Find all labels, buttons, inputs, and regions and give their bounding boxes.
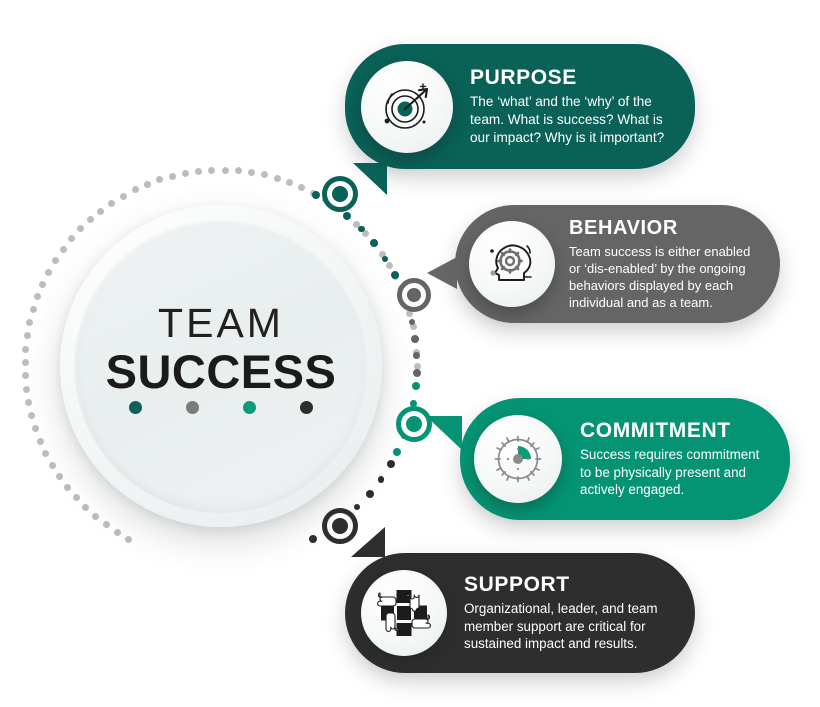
card-commitment[interactable]: COMMITMENT Success requires commitment t… xyxy=(460,398,790,520)
card-body-commitment: Success requires commitment to be physic… xyxy=(580,446,774,499)
connector-dot xyxy=(413,369,421,377)
card-body-support: Organizational, leader, and team member … xyxy=(464,600,677,653)
orbit-dot xyxy=(73,494,80,501)
orbit-dot xyxy=(28,412,35,419)
orbit-dot xyxy=(169,173,176,180)
orbit-dot xyxy=(156,176,163,183)
card-text-support: SUPPORT Organizational, leader, and team… xyxy=(447,573,677,653)
orbit-dot xyxy=(64,484,71,491)
ring-marker-core xyxy=(332,186,348,202)
orbit-dot xyxy=(49,462,56,469)
connector-dot xyxy=(366,490,374,498)
card-title-purpose: PURPOSE xyxy=(470,66,677,89)
orbit-dot xyxy=(261,171,268,178)
orbit-dot xyxy=(222,167,229,174)
ring-marker-core xyxy=(406,416,422,432)
orbit-dot xyxy=(92,513,99,520)
hub-dot-1 xyxy=(186,401,199,414)
card-behavior[interactable]: BEHAVIOR Team success is either enabled … xyxy=(455,205,780,323)
card-tail-purpose xyxy=(353,163,387,195)
hub-dot-3 xyxy=(300,401,313,414)
card-text-behavior: BEHAVIOR Team success is either enabled … xyxy=(555,217,764,312)
connector-dot xyxy=(358,226,365,233)
orbit-dot xyxy=(144,181,151,188)
orbit-dot xyxy=(60,246,67,253)
orbit-dot xyxy=(182,170,189,177)
orbit-dot xyxy=(52,257,59,264)
orbit-dot xyxy=(77,225,84,232)
orbit-dot xyxy=(274,175,281,182)
orbit-dot xyxy=(23,386,30,393)
orbit-dot xyxy=(235,167,242,174)
orbit-dot xyxy=(103,521,110,528)
connector-dot xyxy=(382,256,389,263)
head-gear-icon xyxy=(484,236,540,292)
connector-dot xyxy=(309,535,317,543)
orbit-dot xyxy=(34,293,41,300)
team-success-hub: TEAM SUCCESS xyxy=(60,205,382,527)
orbit-dot xyxy=(286,179,293,186)
hub-dot-0 xyxy=(129,401,142,414)
connector-dot xyxy=(391,271,399,279)
badge-commitment xyxy=(474,415,562,503)
hub-title-line1: TEAM xyxy=(60,303,382,344)
orbit-dot xyxy=(108,200,115,207)
card-support[interactable]: SUPPORT Organizational, leader, and team… xyxy=(345,553,695,673)
connector-dot xyxy=(413,352,420,359)
card-tail-support xyxy=(351,527,385,557)
connector-dot xyxy=(312,191,320,199)
target-arrow-icon xyxy=(377,77,437,137)
gear-clock-icon xyxy=(489,430,547,488)
ring-marker-core xyxy=(332,518,348,534)
orbit-dot xyxy=(298,184,305,191)
orbit-dot xyxy=(39,281,46,288)
card-text-purpose: PURPOSE The ‘what’ and the ‘why’ of the … xyxy=(453,66,677,147)
orbit-dot xyxy=(248,169,255,176)
hub-title-line2: SUCCESS xyxy=(60,348,382,395)
badge-purpose xyxy=(361,61,453,153)
orbit-dot xyxy=(32,425,39,432)
card-text-commitment: COMMITMENT Success requires commitment t… xyxy=(562,419,774,499)
ring-marker-behavior[interactable] xyxy=(397,278,431,312)
orbit-dot xyxy=(114,529,121,536)
connector-dot xyxy=(393,448,401,456)
orbit-dot xyxy=(22,372,29,379)
orbit-dot xyxy=(208,167,215,174)
badge-behavior xyxy=(469,221,555,307)
orbit-dot xyxy=(82,504,89,511)
connector-dot xyxy=(411,335,419,343)
four-hands-icon xyxy=(376,585,432,641)
orbit-dot xyxy=(68,235,75,242)
card-title-support: SUPPORT xyxy=(464,573,677,596)
orbit-dot xyxy=(26,319,33,326)
connector-dot xyxy=(343,212,351,220)
orbit-dot xyxy=(195,168,202,175)
card-title-commitment: COMMITMENT xyxy=(580,419,774,442)
orbit-dot xyxy=(87,216,94,223)
card-body-behavior: Team success is either enabled or ‘dis-e… xyxy=(569,243,764,312)
connector-dot xyxy=(378,476,385,483)
card-tail-behavior xyxy=(427,257,457,289)
orbit-dot xyxy=(22,346,29,353)
orbit-dot xyxy=(132,186,139,193)
orbit-dot xyxy=(24,332,31,339)
hub-color-dots xyxy=(60,401,382,414)
orbit-dot xyxy=(37,438,44,445)
orbit-dot xyxy=(42,450,49,457)
connector-dot xyxy=(412,382,420,390)
orbit-dot xyxy=(22,359,29,366)
hub-dot-2 xyxy=(243,401,256,414)
card-title-behavior: BEHAVIOR xyxy=(569,217,764,239)
orbit-dot xyxy=(97,208,104,215)
orbit-dot xyxy=(386,262,393,269)
ring-marker-core xyxy=(407,288,421,302)
hub-title-block: TEAM SUCCESS xyxy=(60,303,382,395)
orbit-dot xyxy=(56,473,63,480)
infographic-canvas: TEAM SUCCESS PURPOSE The ‘what’ xyxy=(0,0,820,707)
orbit-dot xyxy=(25,399,32,406)
card-purpose[interactable]: PURPOSE The ‘what’ and the ‘why’ of the … xyxy=(345,44,695,169)
orbit-dot xyxy=(120,193,127,200)
orbit-dot xyxy=(45,269,52,276)
connector-dot xyxy=(387,460,395,468)
orbit-dot xyxy=(30,306,37,313)
card-tail-commitment xyxy=(426,416,462,450)
card-body-purpose: The ‘what’ and the ‘why’ of the team. Wh… xyxy=(470,93,677,147)
badge-support xyxy=(361,570,447,656)
orbit-dot xyxy=(125,536,132,543)
connector-dot xyxy=(354,504,361,511)
